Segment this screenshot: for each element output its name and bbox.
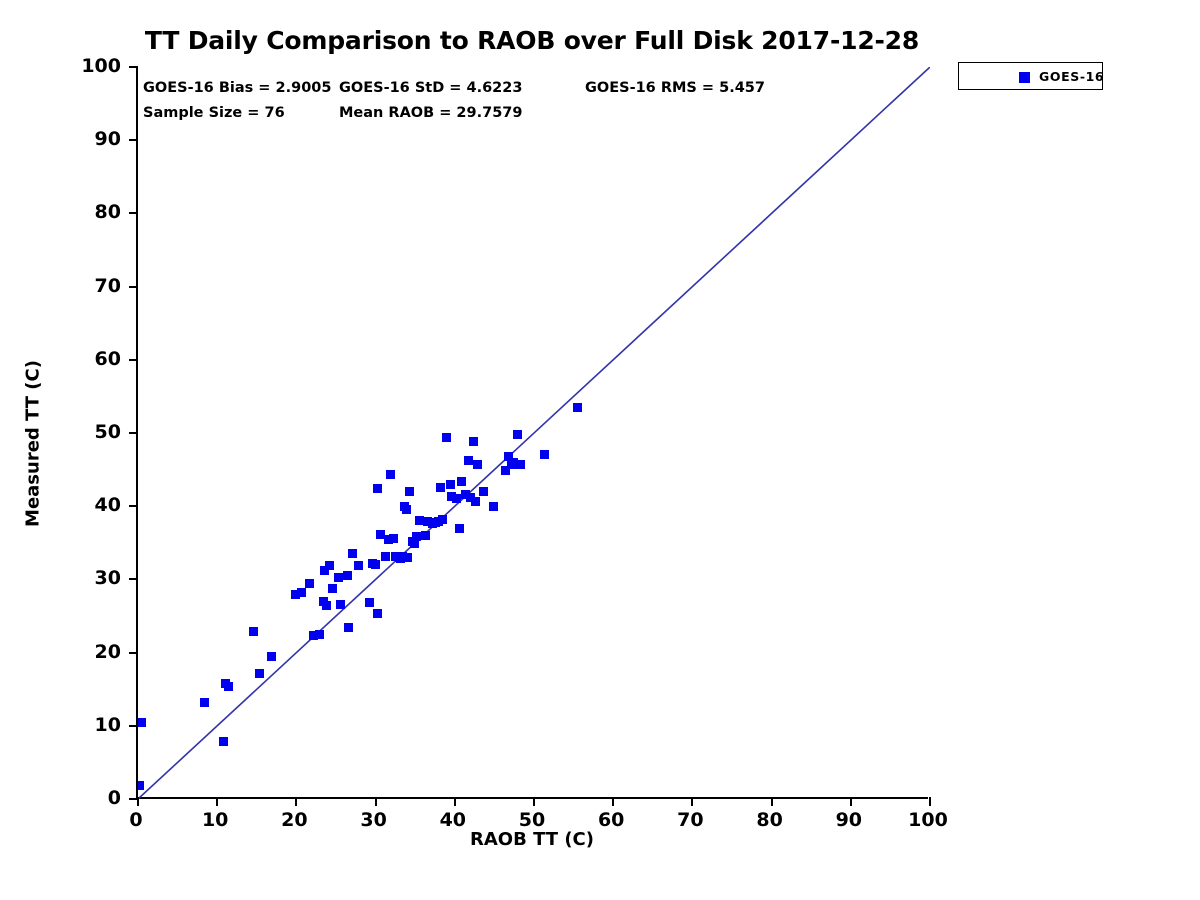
x-axis-tick	[929, 797, 931, 806]
data-point	[403, 553, 412, 562]
y-axis-tick-label: 20	[1, 641, 121, 663]
data-point	[412, 532, 421, 541]
y-axis-tick	[129, 578, 138, 580]
data-point	[249, 627, 258, 636]
data-point	[348, 549, 357, 558]
data-point	[469, 437, 478, 446]
y-axis-tick	[129, 652, 138, 654]
stat-rms: GOES-16 RMS = 5.457	[585, 80, 765, 96]
x-axis-tick-label: 60	[571, 809, 651, 831]
data-point	[421, 531, 430, 540]
scatter-plot-figure: TT Daily Comparison to RAOB over Full Di…	[0, 0, 1200, 900]
x-axis-tick	[850, 797, 852, 806]
data-point	[464, 456, 473, 465]
data-point	[471, 497, 480, 506]
x-axis-tick-label: 20	[254, 809, 334, 831]
x-axis-tick-label: 80	[730, 809, 810, 831]
x-axis-tick	[771, 797, 773, 806]
data-point	[138, 781, 144, 790]
stat-mean-raob: Mean RAOB = 29.7579	[339, 105, 522, 121]
data-point	[381, 552, 390, 561]
data-point	[373, 609, 382, 618]
y-axis-tick	[129, 212, 138, 214]
y-axis-tick-label: 90	[1, 128, 121, 150]
y-axis-tick	[129, 359, 138, 361]
data-point	[343, 571, 352, 580]
y-axis-tick-label: 100	[1, 55, 121, 77]
data-point	[389, 534, 398, 543]
data-point	[267, 652, 276, 661]
x-axis-tick	[454, 797, 456, 806]
data-point	[334, 573, 343, 582]
x-axis-tick	[691, 797, 693, 806]
data-point	[297, 588, 306, 597]
data-point	[386, 470, 395, 479]
x-axis-tick-label: 10	[175, 809, 255, 831]
data-point	[344, 623, 353, 632]
stat-sample-size: Sample Size = 76	[143, 105, 285, 121]
data-point	[322, 601, 331, 610]
data-point	[436, 483, 445, 492]
y-axis-tick-label: 70	[1, 275, 121, 297]
data-point	[516, 460, 525, 469]
data-point	[489, 502, 498, 511]
x-axis-tick	[612, 797, 614, 806]
page-title: TT Daily Comparison to RAOB over Full Di…	[136, 26, 928, 55]
stat-bias: GOES-16 Bias = 2.9005	[143, 80, 331, 96]
x-axis-tick-label: 90	[809, 809, 889, 831]
y-axis-tick-label: 10	[1, 714, 121, 736]
legend[interactable]: GOES-16	[958, 62, 1103, 90]
data-point	[446, 480, 455, 489]
legend-item-label: GOES-16	[1039, 69, 1104, 84]
y-axis-tick	[129, 725, 138, 727]
data-point	[442, 433, 451, 442]
x-axis-tick	[533, 797, 535, 806]
y-axis-label: Measured TT (C)	[23, 344, 44, 544]
data-point	[219, 737, 228, 746]
data-point	[138, 718, 146, 727]
data-point	[255, 669, 264, 678]
data-point	[402, 505, 411, 514]
data-point	[473, 460, 482, 469]
data-point	[305, 579, 314, 588]
y-axis-tick	[129, 139, 138, 141]
data-point	[224, 682, 233, 691]
y-axis-tick-label: 40	[1, 494, 121, 516]
x-axis-tick-label: 30	[334, 809, 414, 831]
data-point	[455, 524, 464, 533]
data-point	[325, 561, 334, 570]
data-point	[452, 494, 461, 503]
x-axis-tick	[137, 797, 139, 806]
data-point	[336, 600, 345, 609]
x-axis-tick	[375, 797, 377, 806]
y-axis-tick-label: 30	[1, 567, 121, 589]
legend-marker-icon	[1019, 72, 1030, 83]
data-point	[328, 584, 337, 593]
data-point	[365, 598, 374, 607]
data-point	[315, 630, 324, 639]
stat-std: GOES-16 StD = 4.6223	[339, 80, 522, 96]
plot-canvas	[138, 67, 930, 799]
x-axis-label: RAOB TT (C)	[136, 829, 928, 850]
x-axis-tick	[295, 797, 297, 806]
y-axis-tick	[129, 286, 138, 288]
data-point	[540, 450, 549, 459]
data-point	[479, 487, 488, 496]
x-axis-tick	[216, 797, 218, 806]
y-axis-tick-label: 0	[1, 787, 121, 809]
x-axis-tick-label: 0	[96, 809, 176, 831]
data-point	[200, 698, 209, 707]
plot-area	[136, 67, 928, 799]
data-point	[438, 515, 447, 524]
x-axis-tick-label: 40	[413, 809, 493, 831]
data-point	[405, 487, 414, 496]
x-axis-tick-label: 70	[650, 809, 730, 831]
identity-line	[138, 67, 930, 799]
x-axis-tick-label: 100	[888, 809, 968, 831]
data-point	[573, 403, 582, 412]
y-axis-tick-label: 50	[1, 421, 121, 443]
data-point	[354, 561, 363, 570]
y-axis-tick	[129, 66, 138, 68]
data-point	[457, 477, 466, 486]
y-axis-tick	[129, 505, 138, 507]
y-axis-tick-label: 60	[1, 348, 121, 370]
data-point	[373, 484, 382, 493]
data-point	[513, 430, 522, 439]
y-axis-tick-label: 80	[1, 201, 121, 223]
y-axis-tick	[129, 432, 138, 434]
data-point	[371, 560, 380, 569]
x-axis-tick-label: 50	[492, 809, 572, 831]
